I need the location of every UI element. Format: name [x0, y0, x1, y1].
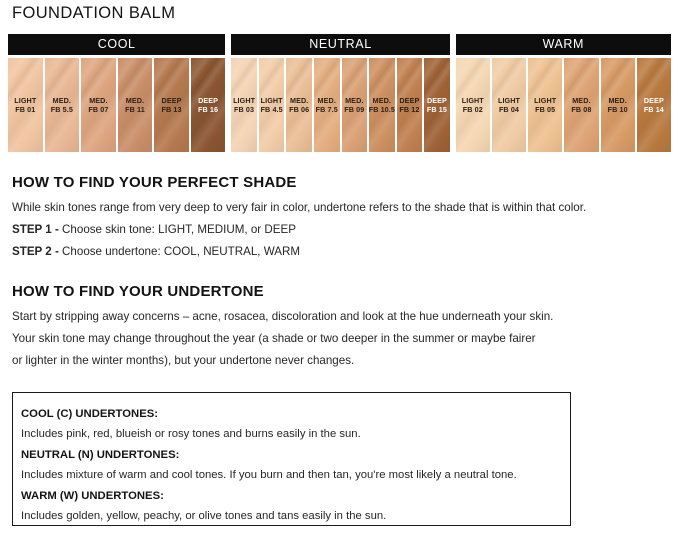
swatch-tone: MED.: [369, 96, 395, 105]
shade-swatch[interactable]: MED.FB 08: [564, 58, 598, 152]
swatch-label: MED.FB 09: [344, 96, 364, 114]
undertone-line-3: or lighter in the winter months), but yo…: [12, 354, 354, 367]
swatch-tone: DEEP: [399, 96, 419, 105]
swatch-tone: MED.: [316, 96, 338, 105]
undertone-line-1: Start by stripping away concerns – acne,…: [12, 310, 553, 323]
swatch-tone: LIGHT: [534, 96, 556, 105]
swatch-label: MED.FB 7.5: [316, 96, 338, 114]
swatch-tone: MED.: [608, 96, 628, 105]
shade-swatch[interactable]: MED.FB 11: [118, 58, 153, 152]
swatch-tone: LIGHT: [462, 96, 484, 105]
group-header-neutral: NEUTRAL: [231, 34, 449, 55]
swatch-label: MED.FB 5.5: [51, 96, 73, 114]
swatch-code: FB 10: [608, 105, 628, 114]
swatch-label: MED.FB 11: [125, 96, 145, 114]
swatch-tone: DEEP: [198, 96, 218, 105]
undertone-description: Includes pink, red, blueish or rosy tone…: [21, 424, 570, 444]
swatch-code: FB 07: [88, 105, 108, 114]
swatch-row: LIGHTFB 02LIGHTFB 04LIGHTFB 05MED.FB 08M…: [456, 58, 671, 152]
shade-swatch[interactable]: MED.FB 10.5: [369, 58, 395, 152]
swatch-code: FB 06: [289, 105, 309, 114]
swatch-label: DEEPFB 14: [644, 96, 664, 114]
swatch-code: FB 11: [125, 105, 145, 114]
page-title: FOUNDATION BALM: [12, 4, 175, 23]
swatch-code: FB 13: [161, 105, 181, 114]
step-2-label: STEP 2 -: [12, 245, 59, 258]
swatch-code: FB 08: [571, 105, 591, 114]
shade-swatch[interactable]: MED.FB 10: [601, 58, 635, 152]
swatch-label: MED.FB 07: [88, 96, 108, 114]
perfect-shade-intro: While skin tones range from very deep to…: [12, 201, 586, 214]
section-heading-undertone: HOW TO FIND YOUR UNDERTONE: [12, 283, 264, 300]
shade-swatch[interactable]: MED.FB 07: [81, 58, 116, 152]
undertone-entry: WARM (W) UNDERTONES:Includes golden, yel…: [21, 487, 570, 526]
step-2-line: STEP 2 - Choose undertone: COOL, NEUTRAL…: [12, 245, 300, 258]
swatch-tone: DEEP: [427, 96, 447, 105]
undertone-term: WARM (W) UNDERTONES:: [21, 487, 570, 506]
swatch-label: LIGHTFB 01: [14, 96, 36, 114]
swatch-row: LIGHTFB 03LIGHTFB 4.5MED.FB 06MED.FB 7.5…: [231, 58, 449, 152]
shade-group-warm: WARMLIGHTFB 02LIGHTFB 04LIGHTFB 05MED.FB…: [456, 34, 671, 152]
swatch-row: LIGHTFB 01MED.FB 5.5MED.FB 07MED.FB 11DE…: [8, 58, 225, 152]
shade-swatch[interactable]: LIGHTFB 02: [456, 58, 490, 152]
undertone-description: Includes golden, yellow, peachy, or oliv…: [21, 506, 570, 526]
shade-swatch[interactable]: MED.FB 5.5: [45, 58, 80, 152]
swatch-code: FB 12: [399, 105, 419, 114]
swatch-tone: MED.: [125, 96, 145, 105]
swatch-tone: LIGHT: [14, 96, 36, 105]
shade-swatch[interactable]: MED.FB 7.5: [314, 58, 340, 152]
shade-swatch[interactable]: LIGHTFB 01: [8, 58, 43, 152]
swatch-label: LIGHTFB 05: [534, 96, 556, 114]
undertone-definition-box: COOL (C) UNDERTONES:Includes pink, red, …: [12, 392, 571, 526]
swatch-label: DEEPFB 16: [198, 96, 218, 114]
swatch-code: FB 10.5: [369, 105, 395, 114]
swatch-tone: DEEP: [644, 96, 664, 105]
swatch-code: FB 16: [198, 105, 218, 114]
swatch-label: MED.FB 10: [608, 96, 628, 114]
shade-swatch[interactable]: LIGHTFB 03: [231, 58, 257, 152]
undertone-line-2: Your skin tone may change throughout the…: [12, 332, 536, 345]
swatch-tone: MED.: [88, 96, 108, 105]
shade-swatch[interactable]: LIGHTFB 05: [528, 58, 562, 152]
swatch-tone: LIGHT: [498, 96, 520, 105]
step-2-text: Choose undertone: COOL, NEUTRAL, WARM: [59, 245, 300, 258]
undertone-entry: NEUTRAL (N) UNDERTONES:Includes mixture …: [21, 446, 570, 485]
swatch-label: DEEPFB 15: [427, 96, 447, 114]
swatch-label: MED.FB 08: [571, 96, 591, 114]
undertone-term: COOL (C) UNDERTONES:: [21, 405, 570, 424]
swatch-code: FB 15: [427, 105, 447, 114]
swatch-tone: MED.: [571, 96, 591, 105]
shade-swatch[interactable]: DEEPFB 15: [424, 58, 450, 152]
swatch-tone: MED.: [289, 96, 309, 105]
swatch-label: DEEPFB 12: [399, 96, 419, 114]
swatch-code: FB 05: [534, 105, 556, 114]
swatch-code: FB 4.5: [261, 105, 283, 114]
shade-chart: COOLLIGHTFB 01MED.FB 5.5MED.FB 07MED.FB …: [8, 34, 671, 152]
shade-swatch[interactable]: DEEPFB 13: [154, 58, 189, 152]
swatch-tone: LIGHT: [261, 96, 283, 105]
swatch-code: FB 5.5: [51, 105, 73, 114]
step-1-label: STEP 1 -: [12, 223, 59, 236]
swatch-label: LIGHTFB 02: [462, 96, 484, 114]
swatch-code: FB 01: [14, 105, 36, 114]
shade-swatch[interactable]: LIGHTFB 04: [492, 58, 526, 152]
shade-swatch[interactable]: DEEPFB 12: [397, 58, 423, 152]
undertone-term: NEUTRAL (N) UNDERTONES:: [21, 446, 570, 465]
swatch-label: DEEPFB 13: [161, 96, 181, 114]
swatch-label: LIGHTFB 04: [498, 96, 520, 114]
swatch-label: MED.FB 06: [289, 96, 309, 114]
step-1-line: STEP 1 - Choose skin tone: LIGHT, MEDIUM…: [12, 223, 296, 236]
swatch-tone: MED.: [344, 96, 364, 105]
step-1-text: Choose skin tone: LIGHT, MEDIUM, or DEEP: [59, 223, 296, 236]
shade-swatch[interactable]: DEEPFB 16: [191, 58, 226, 152]
group-header-cool: COOL: [8, 34, 225, 55]
swatch-label: MED.FB 10.5: [369, 96, 395, 114]
shade-swatch[interactable]: MED.FB 06: [286, 58, 312, 152]
shade-swatch[interactable]: LIGHTFB 4.5: [259, 58, 285, 152]
swatch-label: LIGHTFB 03: [233, 96, 255, 114]
shade-group-neutral: NEUTRALLIGHTFB 03LIGHTFB 4.5MED.FB 06MED…: [231, 34, 449, 152]
shade-swatch[interactable]: DEEPFB 14: [637, 58, 671, 152]
group-header-warm: WARM: [456, 34, 671, 55]
shade-swatch[interactable]: MED.FB 09: [342, 58, 368, 152]
swatch-code: FB 09: [344, 105, 364, 114]
swatch-code: FB 02: [462, 105, 484, 114]
swatch-tone: LIGHT: [233, 96, 255, 105]
swatch-code: FB 04: [498, 105, 520, 114]
shade-group-cool: COOLLIGHTFB 01MED.FB 5.5MED.FB 07MED.FB …: [8, 34, 225, 152]
swatch-code: FB 14: [644, 105, 664, 114]
undertone-entry: COOL (C) UNDERTONES:Includes pink, red, …: [21, 405, 570, 444]
undertone-description: Includes mixture of warm and cool tones.…: [21, 465, 570, 485]
swatch-code: FB 7.5: [316, 105, 338, 114]
section-heading-perfect-shade: HOW TO FIND YOUR PERFECT SHADE: [12, 174, 297, 191]
swatch-tone: MED.: [51, 96, 73, 105]
swatch-label: LIGHTFB 4.5: [261, 96, 283, 114]
swatch-tone: DEEP: [161, 96, 181, 105]
swatch-code: FB 03: [233, 105, 255, 114]
